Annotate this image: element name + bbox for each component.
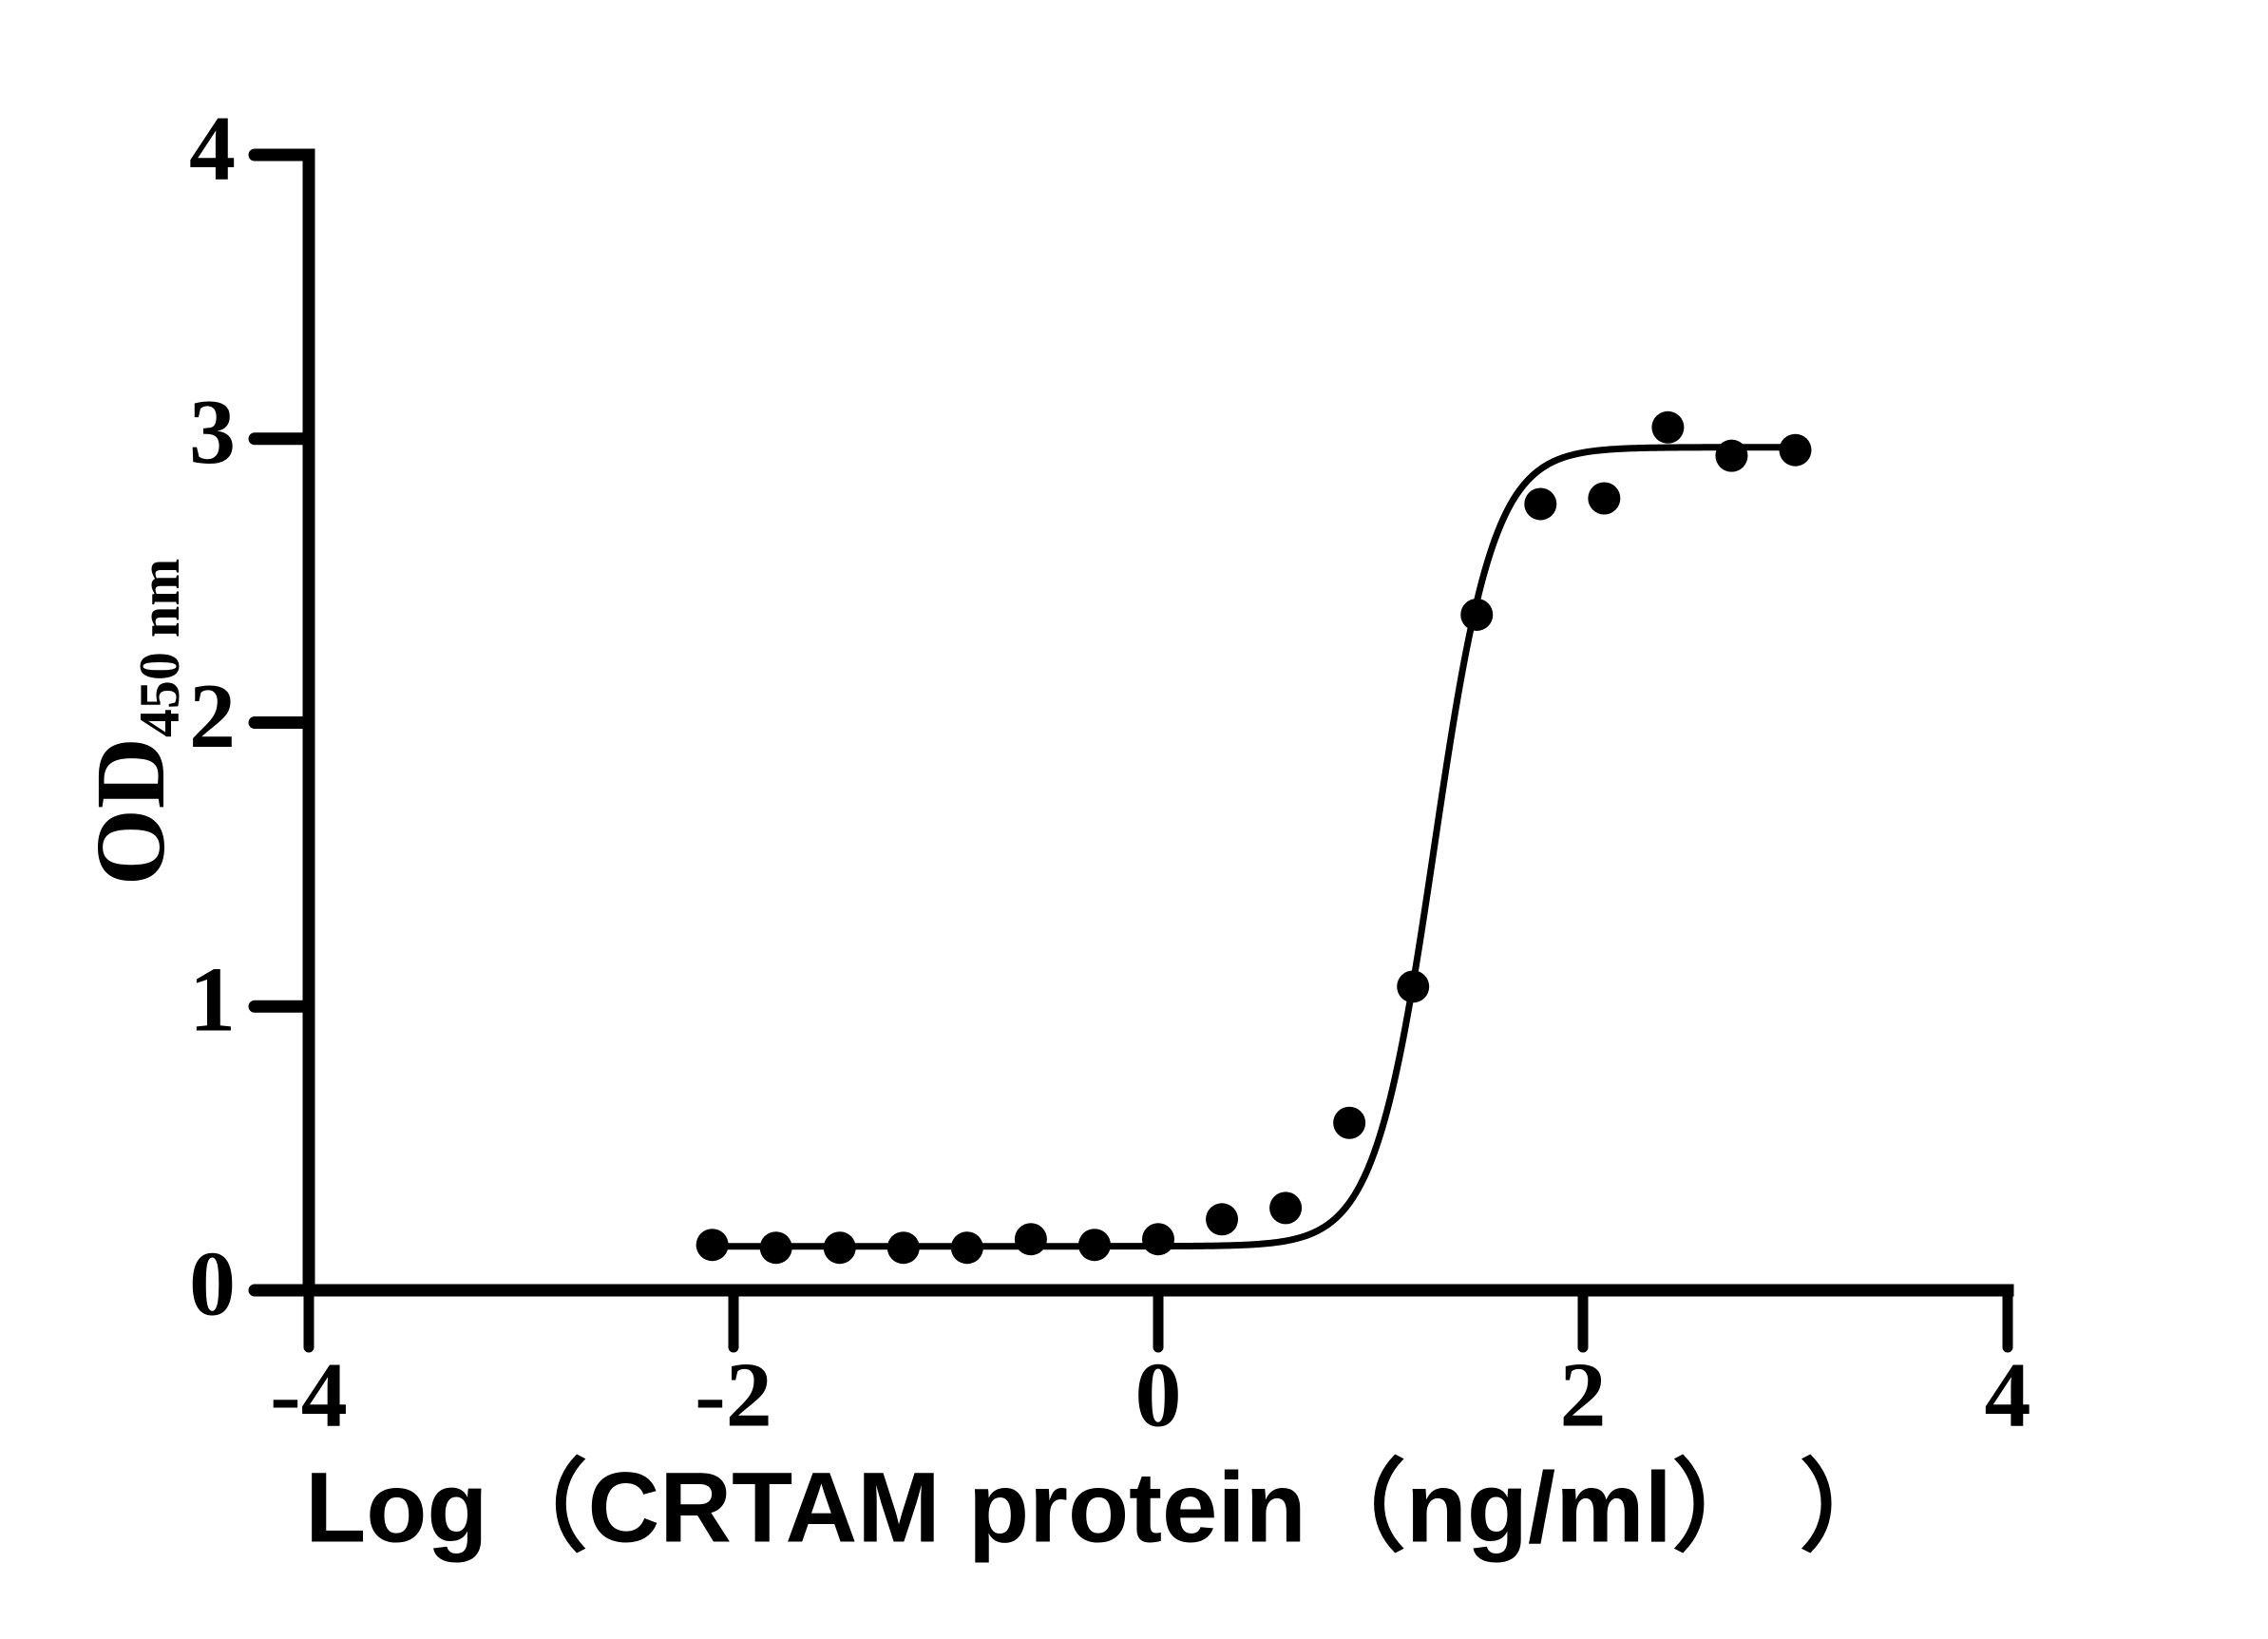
- data-point: [696, 1229, 729, 1261]
- y-axis-title-main: OD: [76, 737, 185, 886]
- x-axis-title: Log（CRTAM protein（ng/ml） ）: [305, 1453, 1899, 1564]
- x-tick-label--2: -2: [695, 1344, 772, 1446]
- data-point: [1524, 487, 1556, 520]
- chart-figure: 01234 -4-2024 OD450 nm Log（CRTAM protein…: [0, 0, 2268, 1639]
- chart-canvas: 01234 -4-2024 OD450 nm Log（CRTAM protein…: [0, 0, 2268, 1639]
- y-tick-label-0: 0: [189, 1232, 236, 1335]
- y-axis-title-subscript: 450 nm: [128, 559, 191, 737]
- data-point: [1142, 1223, 1174, 1255]
- data-point: [1651, 411, 1684, 444]
- data-point: [824, 1231, 856, 1264]
- data-point: [951, 1231, 983, 1264]
- data-point: [887, 1231, 920, 1264]
- x-tick-label-0: 0: [1135, 1344, 1182, 1446]
- y-tick-label-3: 3: [189, 381, 236, 484]
- data-point: [760, 1231, 792, 1264]
- data-point: [1588, 482, 1620, 514]
- data-point: [1333, 1107, 1365, 1139]
- data-point: [1460, 599, 1493, 631]
- x-tick-label-2: 2: [1560, 1344, 1607, 1446]
- data-point: [1206, 1203, 1238, 1235]
- data-point: [1715, 440, 1747, 472]
- data-point: [1780, 434, 1812, 467]
- x-tick-label-4: 4: [1985, 1344, 2031, 1446]
- data-point: [1269, 1191, 1302, 1224]
- data-point: [1078, 1229, 1111, 1261]
- y-tick-label-1: 1: [189, 949, 236, 1052]
- data-point: [1015, 1223, 1047, 1255]
- y-tick-label-2: 2: [189, 665, 236, 768]
- data-point: [1397, 970, 1429, 1002]
- x-tick-label--4: -4: [270, 1344, 348, 1446]
- y-tick-label-4: 4: [189, 97, 236, 200]
